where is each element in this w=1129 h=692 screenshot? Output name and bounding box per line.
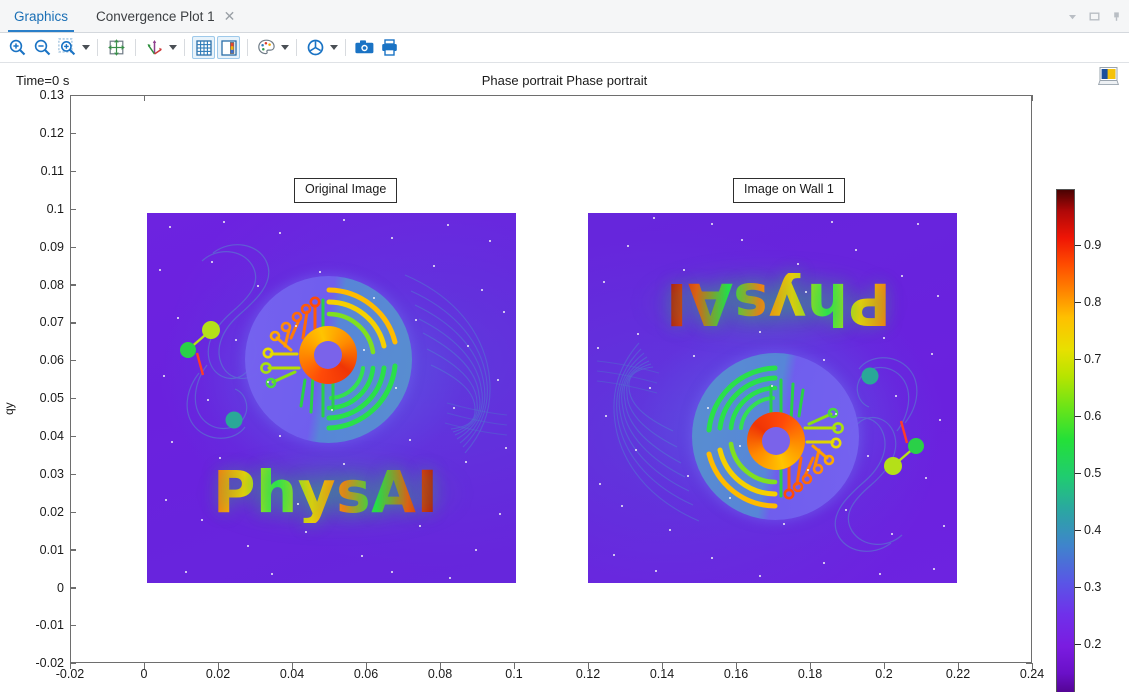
annotation-image-on-wall-1[interactable]: Image on Wall 1 bbox=[733, 178, 845, 203]
colorbar-tick-label: 0.6 bbox=[1084, 409, 1101, 423]
plot-canvas[interactable]: Time=0 s Phase portrait Phase portrait q… bbox=[0, 63, 1129, 692]
image-on-wall-1-panel[interactable]: PhysAI bbox=[588, 213, 957, 583]
chevron-down-icon[interactable] bbox=[1066, 10, 1079, 23]
x-tick-label: 0.1 bbox=[484, 667, 544, 681]
y-tick-label: 0.13 bbox=[6, 88, 64, 102]
y-tick-label: 0.07 bbox=[6, 315, 64, 329]
restore-icon[interactable] bbox=[1088, 10, 1101, 23]
color-palette-icon[interactable] bbox=[255, 36, 278, 59]
colorbar-tick-label: 0.7 bbox=[1084, 352, 1101, 366]
annotation-original-image[interactable]: Original Image bbox=[294, 178, 397, 203]
x-tick-label: 0.18 bbox=[780, 667, 840, 681]
axis-orientation-dropdown-caret[interactable] bbox=[167, 38, 178, 58]
close-icon[interactable]: ✕ bbox=[224, 9, 236, 23]
tab-bar: Graphics Convergence Plot 1 ✕ bbox=[0, 0, 1129, 33]
axis-orientation-icon[interactable] bbox=[143, 36, 166, 59]
zoom-extents-icon[interactable] bbox=[105, 36, 128, 59]
y-tick-label: 0.11 bbox=[6, 164, 64, 178]
colorbar-gradient bbox=[1057, 190, 1074, 692]
y-tick-label: 0.06 bbox=[6, 353, 64, 367]
noise-speckles bbox=[147, 213, 516, 583]
snapshot-camera-icon[interactable] bbox=[353, 36, 376, 59]
y-tick-label: 0.1 bbox=[6, 202, 64, 216]
refresh-dropdown-caret[interactable] bbox=[328, 38, 339, 58]
graphics-window: Graphics Convergence Plot 1 ✕ bbox=[0, 0, 1129, 692]
y-tick-label: 0.08 bbox=[6, 278, 64, 292]
x-tick-label: 0.2 bbox=[854, 667, 914, 681]
print-icon[interactable] bbox=[378, 36, 401, 59]
colorbar-tick-label: 0.3 bbox=[1084, 580, 1101, 594]
x-tick-label: 0.02 bbox=[188, 667, 248, 681]
toolbar-divider bbox=[97, 39, 98, 56]
x-tick-label: 0.16 bbox=[706, 667, 766, 681]
y-tick-label: 0.09 bbox=[6, 240, 64, 254]
grid-toggle-icon[interactable] bbox=[192, 36, 215, 59]
x-tick-label: 0.06 bbox=[336, 667, 396, 681]
y-tick-label: 0.04 bbox=[6, 429, 64, 443]
x-tick-label: -0.02 bbox=[40, 667, 100, 681]
color-palette-dropdown-caret[interactable] bbox=[279, 38, 290, 58]
x-tick-label: 0.22 bbox=[928, 667, 988, 681]
noise-speckles bbox=[588, 213, 957, 583]
colorbar-tick-label: 0.2 bbox=[1084, 637, 1101, 651]
zoom-in-icon[interactable] bbox=[6, 36, 29, 59]
toolbar-divider bbox=[184, 39, 185, 56]
y-tick-label: 0.03 bbox=[6, 467, 64, 481]
zoom-out-icon[interactable] bbox=[31, 36, 54, 59]
x-tick-label: 0.04 bbox=[262, 667, 322, 681]
tab-convergence-plot-1-label: Convergence Plot 1 bbox=[96, 9, 215, 24]
y-tick-label: 0.12 bbox=[6, 126, 64, 140]
y-tick-label: 0.05 bbox=[6, 391, 64, 405]
x-tick-label: 0 bbox=[114, 667, 174, 681]
x-tick-label: 0.24 bbox=[1002, 667, 1062, 681]
tab-convergence-plot-1[interactable]: Convergence Plot 1 ✕ bbox=[82, 0, 249, 32]
toolbar-divider bbox=[345, 39, 346, 56]
graphics-toolbar bbox=[0, 33, 1129, 63]
colorbar-tick-label: 0.4 bbox=[1084, 523, 1101, 537]
y-tick-label: -0.01 bbox=[6, 618, 64, 632]
y-tick-label: 0 bbox=[6, 581, 64, 595]
tab-graphics[interactable]: Graphics bbox=[0, 0, 82, 32]
toolbar-divider bbox=[247, 39, 248, 56]
pin-icon[interactable] bbox=[1110, 10, 1123, 23]
x-tick-label: 0.14 bbox=[632, 667, 692, 681]
window-controls bbox=[1066, 0, 1123, 33]
colorbar-tick-label: 0.5 bbox=[1084, 466, 1101, 480]
colorbar-tick-label: 0.9 bbox=[1084, 238, 1101, 252]
colorbar bbox=[1056, 189, 1075, 692]
zoom-box-icon[interactable] bbox=[56, 36, 79, 59]
colorbar-tick-label: 0.8 bbox=[1084, 295, 1101, 309]
zoom-box-dropdown-caret[interactable] bbox=[80, 38, 91, 58]
legend-toggle-icon[interactable] bbox=[217, 36, 240, 59]
original-image-panel[interactable]: PhysAI bbox=[147, 213, 516, 583]
refresh-icon[interactable] bbox=[304, 36, 327, 59]
y-tick-label: 0.01 bbox=[6, 543, 64, 557]
toolbar-divider bbox=[296, 39, 297, 56]
x-tick-label: 0.08 bbox=[410, 667, 470, 681]
tab-graphics-label: Graphics bbox=[14, 9, 68, 24]
page-title: Phase portrait Phase portrait bbox=[0, 73, 1129, 88]
image-export-icon[interactable] bbox=[1097, 65, 1121, 87]
x-tick-label: 0.12 bbox=[558, 667, 618, 681]
toolbar-divider bbox=[135, 39, 136, 56]
y-tick-label: 0.02 bbox=[6, 505, 64, 519]
